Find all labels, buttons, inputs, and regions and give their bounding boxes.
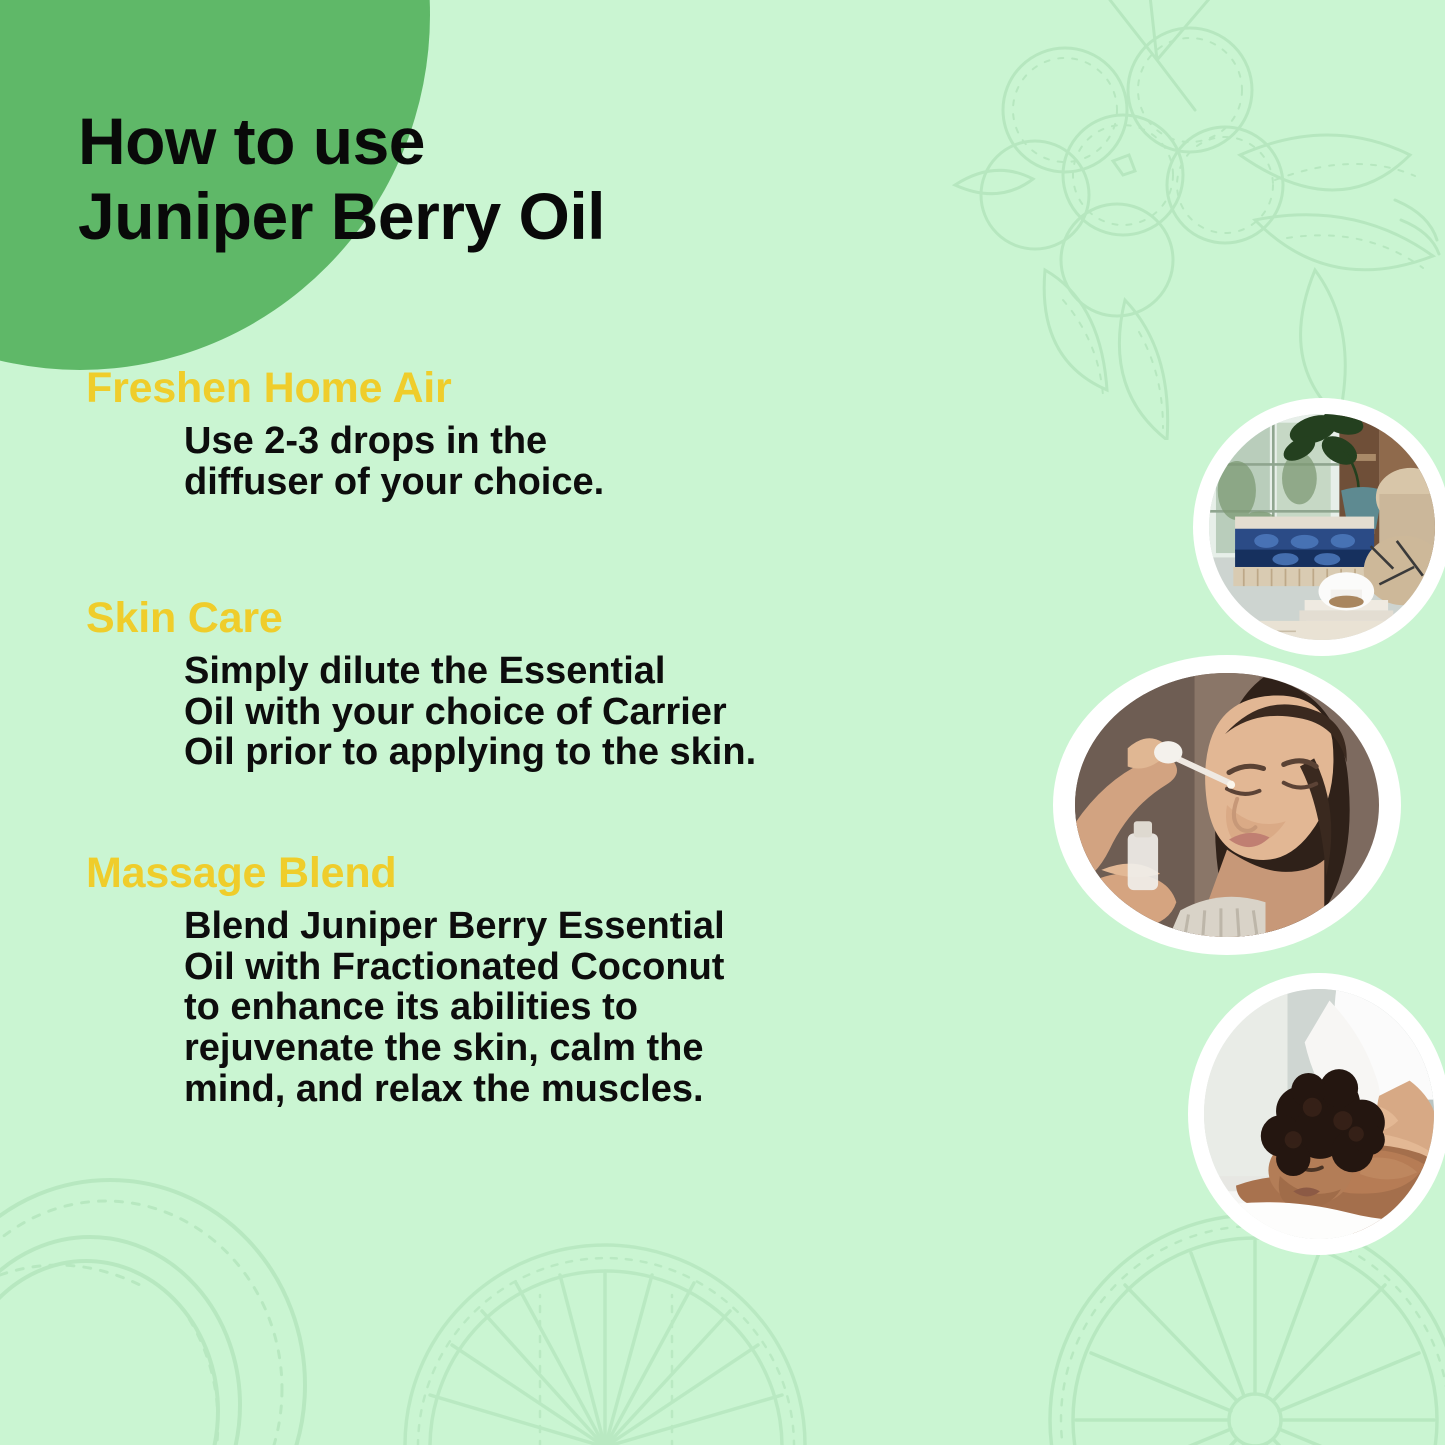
section-body: Simply dilute the Essential Oil with you… [184, 651, 946, 773]
living-room-diffuser-photo [1193, 398, 1445, 656]
section-body-line: diffuser of your choice. [184, 462, 946, 503]
photo-image [1204, 989, 1434, 1239]
section-body-line: Oil with your choice of Carrier [184, 692, 946, 733]
citrus-slice-watermark-right [1005, 1205, 1445, 1445]
section-body-line: Simply dilute the Essential [184, 651, 946, 692]
page-title: How to use Juniper Berry Oil [78, 104, 878, 254]
section-body-line: Use 2-3 drops in the [184, 421, 946, 462]
section-body-line: Blend Juniper Berry Essential [184, 906, 946, 947]
section-body: Use 2-3 drops in the diffuser of your ch… [184, 421, 946, 502]
section-heading: Freshen Home Air [86, 366, 946, 411]
usage-section-massage-blend: Massage Blend Blend Juniper Berry Essent… [86, 851, 946, 1109]
page-title-line-2: Juniper Berry Oil [78, 179, 878, 254]
how-to-use-poster: How to use Juniper Berry Oil Freshen Hom… [0, 0, 1445, 1445]
section-body-line: Oil with Fractionated Coconut [184, 947, 946, 988]
section-body: Blend Juniper Berry Essential Oil with F… [184, 906, 946, 1109]
section-heading: Skin Care [86, 596, 946, 641]
section-body-line: mind, and relax the muscles. [184, 1069, 946, 1110]
page-title-line-1: How to use [78, 104, 878, 179]
usage-section-freshen-home-air: Freshen Home Air Use 2-3 drops in the di… [86, 366, 946, 502]
facial-serum-application-photo [1053, 655, 1401, 955]
section-body-line: rejuvenate the skin, calm the [184, 1028, 946, 1069]
juniper-berries-watermark [895, 0, 1445, 440]
photo-image [1209, 414, 1435, 640]
section-heading: Massage Blend [86, 851, 946, 896]
photo-image [1075, 673, 1379, 937]
citrus-slice-watermark-left [0, 1155, 360, 1445]
back-massage-spa-photo [1188, 973, 1445, 1255]
citrus-half-watermark-middle [390, 1235, 820, 1445]
usage-section-skin-care: Skin Care Simply dilute the Essential Oi… [86, 596, 946, 773]
section-body-line: Oil prior to applying to the skin. [184, 732, 946, 773]
section-body-line: to enhance its abilities to [184, 987, 946, 1028]
